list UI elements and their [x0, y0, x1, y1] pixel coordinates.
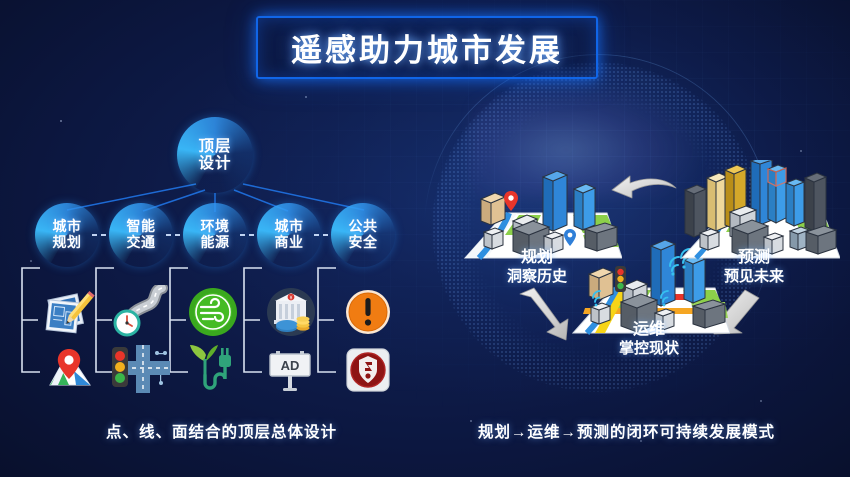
star-dot: [305, 96, 307, 98]
cycle-title: 运维: [573, 320, 725, 340]
cycle-label-forecast: 预测 预见未来: [678, 248, 830, 287]
bank-money-icon: ¥: [265, 287, 317, 337]
cycle-title: 预测: [678, 248, 830, 268]
node-separator-dash: [92, 234, 107, 236]
node-urban-planning[interactable]: 城市 规划: [35, 203, 99, 267]
node-label-line1: 环境: [201, 219, 230, 235]
star-dot: [800, 150, 802, 152]
plant-power-plug-icon: [186, 343, 242, 395]
node-public-safety[interactable]: 公共 安全: [331, 203, 395, 267]
star-dot: [30, 260, 32, 262]
node-top-level-design[interactable]: 顶层 设计: [177, 117, 253, 193]
node-label-line1: 顶层: [198, 138, 231, 155]
orange-warning-icon: [345, 289, 391, 335]
node-smart-transport[interactable]: 智能 交通: [109, 203, 173, 267]
node-urban-commerce[interactable]: 城市 商业: [257, 203, 321, 267]
road-clock-icon: [112, 285, 170, 341]
wifi-signal-icon: [666, 254, 688, 276]
node-label-line2: 交通: [127, 235, 156, 251]
green-wind-energy-icon: [188, 287, 238, 337]
node-label-line2: 安全: [349, 235, 378, 251]
ad-billboard-icon: AD: [266, 350, 314, 392]
slide-canvas: 遥感助力城市发展 顶层 设计 城市 规划 智能 交通: [0, 0, 850, 477]
node-label-line2: 设计: [198, 155, 231, 172]
star-dot: [470, 420, 472, 422]
node-label-line1: 城市: [53, 219, 82, 235]
red-safety-alert-icon: [346, 348, 390, 392]
svg-text:¥: ¥: [290, 295, 293, 301]
blueprint-pencil-icon: [43, 288, 95, 338]
node-label-line1: 城市: [275, 219, 304, 235]
map-location-pin-icon: [44, 347, 94, 389]
cycle-subtitle: 预见未来: [678, 268, 830, 287]
star-dot: [60, 120, 62, 122]
cycle-subtitle: 掌控现状: [573, 340, 725, 359]
node-separator-dash: [314, 234, 329, 236]
node-label-line2: 规划: [53, 235, 82, 251]
cycle-label-operations: 运维 掌控现状: [573, 320, 725, 359]
left-caption: 点、线、面结合的顶层总体设计: [106, 420, 337, 442]
node-label-line1: 公共: [349, 219, 378, 235]
node-label-line2: 商业: [275, 235, 304, 251]
node-separator-dash: [166, 234, 181, 236]
slide-title: 遥感助力城市发展: [291, 25, 563, 70]
slide-title-box: 遥感助力城市发展: [256, 16, 598, 79]
right-caption: 规划→运维→预测的闭环可持续发展模式: [478, 420, 775, 442]
node-separator-dash: [240, 234, 255, 236]
node-label-line2: 能源: [201, 235, 230, 251]
node-environment-energy[interactable]: 环境 能源: [183, 203, 247, 267]
node-label-line1: 智能: [127, 219, 156, 235]
traffic-light-crossroad-icon: [110, 345, 170, 393]
svg-text:AD: AD: [281, 358, 300, 373]
